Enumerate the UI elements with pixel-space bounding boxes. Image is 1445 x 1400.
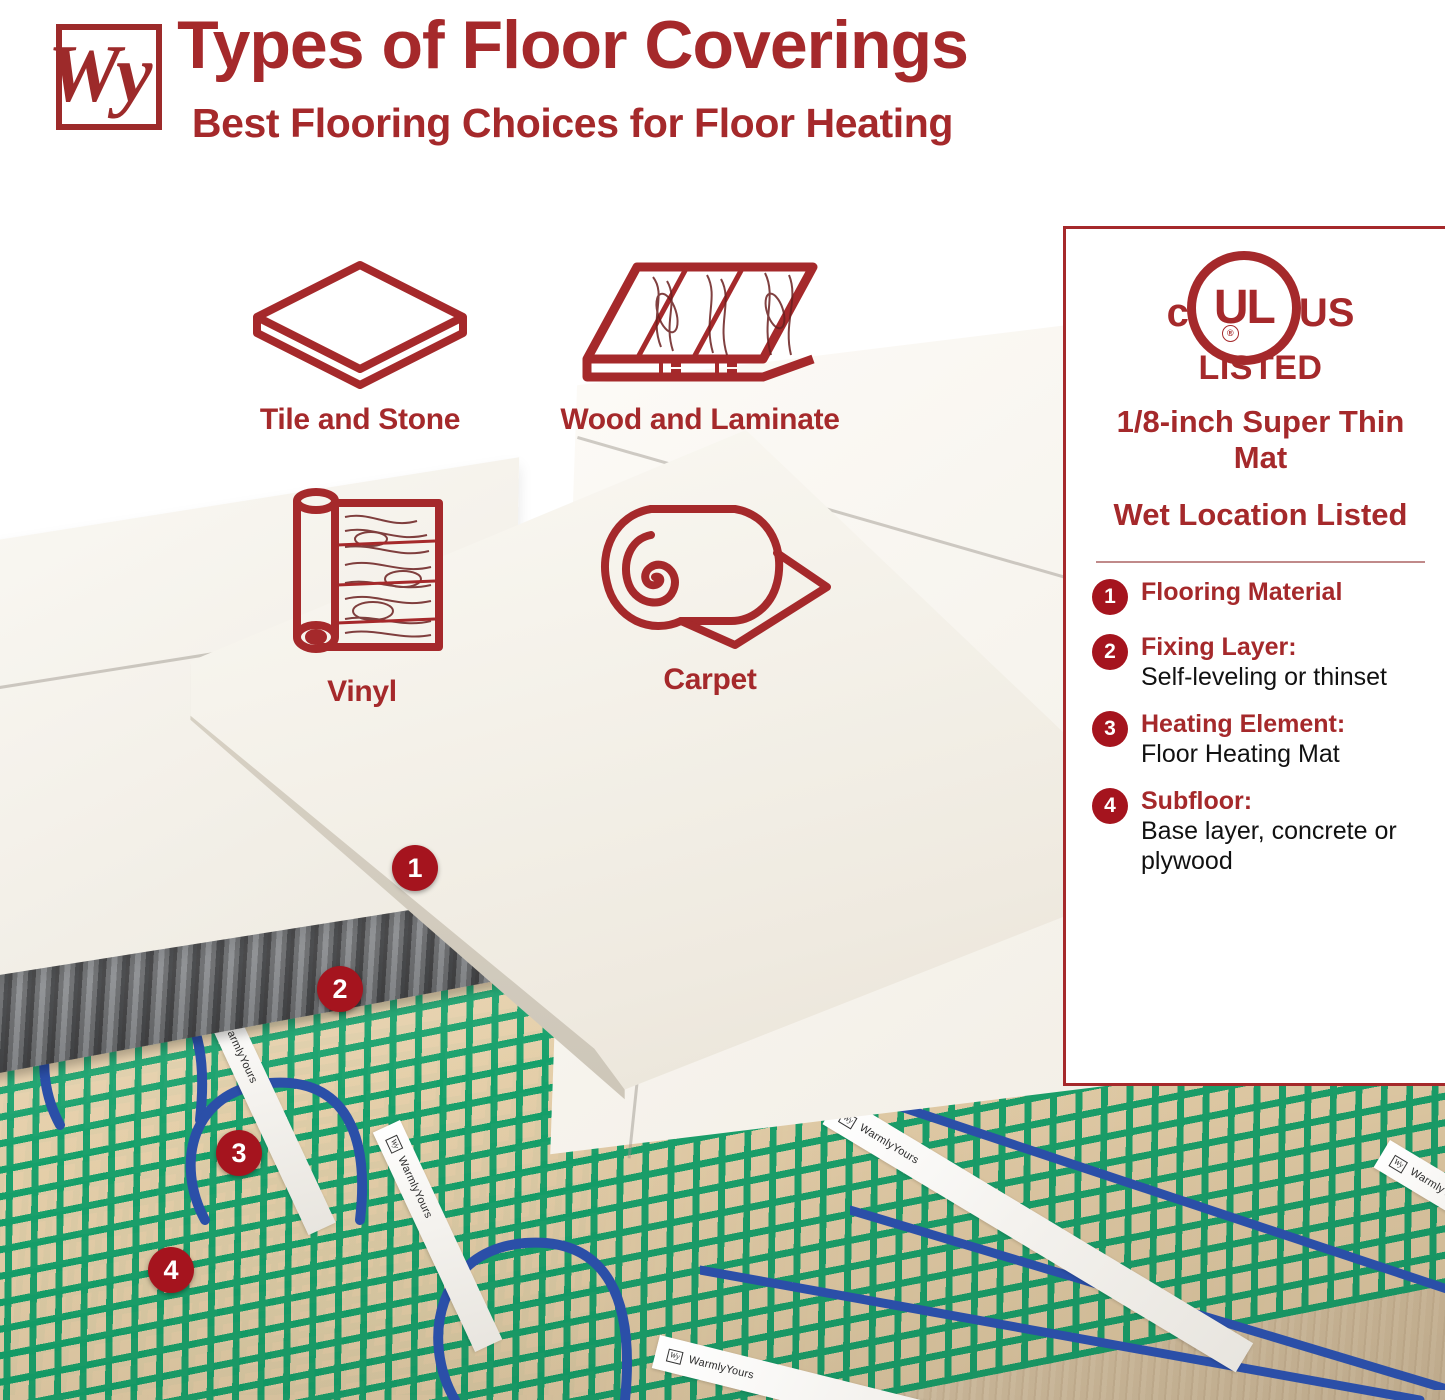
legend-title-1: Flooring Material: [1141, 577, 1342, 607]
legend-title-3: Heating Element:: [1141, 709, 1345, 739]
wy-mini-logo-icon: Wy: [1389, 1154, 1409, 1173]
flooring-type-label: Carpet: [570, 663, 850, 697]
callout-marker-2: 2: [317, 966, 363, 1012]
legend-sub-3: Floor Heating Mat: [1141, 739, 1345, 769]
page-subtitle: Best Flooring Choices for Floor Heating: [0, 100, 1145, 147]
certification-panel: c UL ® US LISTED 1/8-inch Super Thin Mat…: [1063, 226, 1445, 1086]
layer-legend: 1 Flooring Material 2 Fixing Layer: Self…: [1066, 573, 1445, 876]
ul-circle-icon: UL ®: [1187, 251, 1301, 365]
flooring-type-label: Tile and Stone: [215, 403, 505, 437]
registered-trademark-icon: ®: [1222, 325, 1239, 342]
ul-suffix-us: US: [1299, 293, 1355, 333]
legend-item-3: 3 Heating Element: Floor Heating Mat: [1092, 709, 1433, 769]
legend-text-2: Fixing Layer: Self-leveling or thinset: [1141, 632, 1387, 692]
vinyl-roll-icon: [232, 487, 492, 667]
legend-badge-4: 4: [1092, 788, 1128, 824]
header: Wy Types of Floor Coverings Best Floorin…: [0, 0, 1445, 185]
flooring-type-tile-and-stone: Tile and Stone: [215, 255, 505, 437]
panel-divider: [1096, 561, 1425, 563]
legend-sub-4: Base layer, concrete or plywood: [1141, 816, 1433, 876]
infographic-root: Wy WarmlyYours Wy WarmlyYours Wy WarmlyY…: [0, 0, 1445, 1400]
ul-letters: UL: [1214, 284, 1274, 332]
legend-sub-2: Self-leveling or thinset: [1141, 662, 1387, 692]
legend-item-4: 4 Subfloor: Base layer, concrete or plyw…: [1092, 786, 1433, 876]
legend-badge-1: 1: [1092, 579, 1128, 615]
legend-text-3: Heating Element: Floor Heating Mat: [1141, 709, 1345, 769]
flooring-type-wood-and-laminate: Wood and Laminate: [520, 255, 880, 437]
flooring-type-label: Vinyl: [232, 675, 492, 709]
legend-title-2: Fixing Layer:: [1141, 632, 1387, 662]
ul-listed-text: LISTED: [1066, 349, 1445, 388]
flooring-type-vinyl: Vinyl: [232, 487, 492, 709]
callout-marker-3: 3: [216, 1130, 262, 1176]
legend-item-1: 1 Flooring Material: [1092, 577, 1433, 615]
flooring-type-label: Wood and Laminate: [520, 403, 880, 437]
legend-text-1: Flooring Material: [1141, 577, 1342, 607]
flooring-types-group: Tile and Stone: [0, 255, 930, 735]
mat-brand-label: WarmlyYours: [687, 1354, 755, 1382]
panel-headline-wet-location: Wet Location Listed: [1066, 497, 1445, 533]
flooring-type-carpet: Carpet: [570, 495, 850, 697]
wy-mini-logo-icon: Wy: [666, 1348, 684, 1364]
ul-listed-mark: c UL ® US LISTED: [1066, 229, 1445, 404]
legend-badge-3: 3: [1092, 711, 1128, 747]
panel-headline-thin-mat: 1/8-inch Super Thin Mat: [1066, 404, 1445, 477]
carpet-roll-icon: [570, 495, 850, 655]
callout-marker-1: 1: [392, 845, 438, 891]
tile-slab-icon: [215, 255, 505, 395]
callout-marker-4: 4: [148, 1247, 194, 1293]
legend-badge-2: 2: [1092, 634, 1128, 670]
wood-plank-icon: [520, 255, 880, 395]
legend-text-4: Subfloor: Base layer, concrete or plywoo…: [1141, 786, 1433, 876]
page-title: Types of Floor Coverings: [0, 6, 1145, 84]
legend-title-4: Subfloor:: [1141, 786, 1433, 816]
ul-prefix-c: c: [1167, 293, 1189, 333]
legend-item-2: 2 Fixing Layer: Self-leveling or thinset: [1092, 632, 1433, 692]
